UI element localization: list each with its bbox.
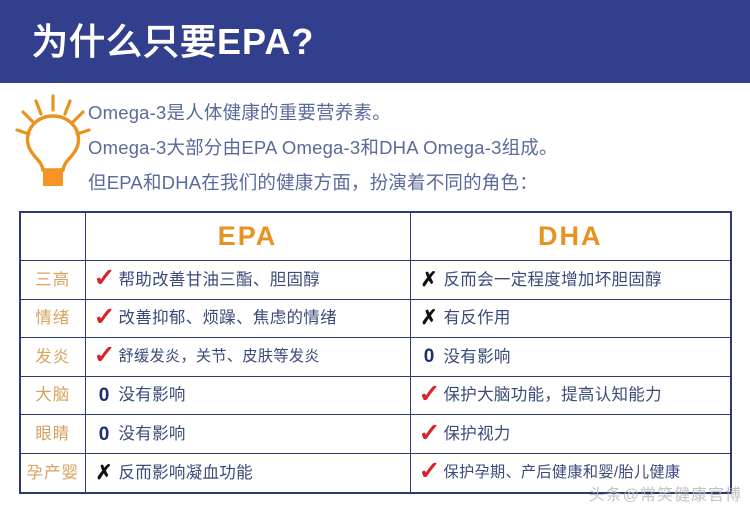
row-epa-text: 反而影响凝血功能 [119, 465, 253, 482]
row-epa-cell: ✓ 改善抑郁、烦躁、焦虑的情绪 [85, 299, 410, 338]
row-dha-cell: ✗ 有反作用 [410, 299, 731, 338]
title-banner: 为什么只要EPA? [0, 0, 750, 83]
row-dha-text: 反而会一定程度增加坏胆固醇 [444, 272, 662, 289]
table-row: 眼睛 0 没有影响 ✓ 保护视力 [20, 415, 731, 454]
row-dha-text: 保护孕期、产后健康和婴/胎儿健康 [444, 465, 681, 480]
row-dha-text: 保护视力 [444, 426, 511, 443]
row-label-cell: 情绪 [20, 299, 85, 338]
table-header-epa-label: EPA [86, 223, 410, 250]
intro-line-1: Omega-3是人体健康的重要营养素。 [88, 95, 738, 130]
row-dha-text: 保护大脑功能，提高认知能力 [444, 387, 662, 404]
cross-icon: ✗ [418, 270, 441, 290]
row-label: 大脑 [21, 387, 85, 404]
intro-text-block: Omega-3是人体健康的重要营养素。 Omega-3大部分由EPA Omega… [88, 95, 738, 200]
cross-icon: ✗ [93, 463, 116, 483]
row-dha-cell: ✓ 保护大脑功能，提高认知能力 [410, 376, 731, 415]
row-label-cell: 发炎 [20, 338, 85, 377]
check-icon: ✓ [417, 459, 441, 484]
table-header-dha-label: DHA [411, 223, 731, 250]
check-icon: ✓ [92, 305, 116, 330]
row-label-cell: 大脑 [20, 376, 85, 415]
row-label: 发炎 [21, 349, 85, 366]
row-label: 三高 [21, 272, 85, 289]
intro-line-2: Omega-3大部分由EPA Omega-3和DHA Omega-3组成。 [88, 130, 738, 165]
table-row: 情绪 ✓ 改善抑郁、烦躁、焦虑的情绪 ✗ 有反作用 [20, 299, 731, 338]
check-icon: ✓ [417, 421, 441, 446]
intro-line-3: 但EPA和DHA在我们的健康方面，扮演着不同的角色： [88, 165, 738, 200]
row-dha-cell: ✗ 反而会一定程度增加坏胆固醇 [410, 261, 731, 300]
check-icon: ✓ [92, 266, 116, 291]
row-dha-text: 有反作用 [444, 310, 511, 327]
check-icon: ✓ [92, 343, 116, 368]
row-epa-text: 没有影响 [119, 387, 186, 404]
zero-icon: 0 [93, 386, 116, 405]
lightbulb-icon [14, 91, 92, 189]
table-header-dha-cell: DHA [410, 212, 731, 261]
row-label-cell: 三高 [20, 261, 85, 300]
row-epa-cell: 0 没有影响 [85, 415, 410, 454]
intro-section: Omega-3是人体健康的重要营养素。 Omega-3大部分由EPA Omega… [0, 83, 750, 205]
row-label: 孕产婴 [21, 465, 85, 482]
table-header-epa-cell: EPA [85, 212, 410, 261]
table-row: 发炎 ✓ 舒缓发炎，关节、皮肤等发炎 0 没有影响 [20, 338, 731, 377]
row-dha-text: 没有影响 [444, 349, 511, 366]
row-epa-text: 没有影响 [119, 426, 186, 443]
row-epa-text: 舒缓发炎，关节、皮肤等发炎 [119, 349, 320, 364]
row-dha-cell: 0 没有影响 [410, 338, 731, 377]
row-epa-cell: ✓ 舒缓发炎，关节、皮肤等发炎 [85, 338, 410, 377]
watermark-text: 头条@常笑健康官博 [589, 481, 742, 505]
row-epa-text: 帮助改善甘油三酯、胆固醇 [119, 272, 321, 289]
page-title: 为什么只要EPA? [32, 24, 314, 60]
check-icon: ✓ [417, 382, 441, 407]
row-label-cell: 眼睛 [20, 415, 85, 454]
row-epa-cell: 0 没有影响 [85, 376, 410, 415]
row-epa-cell: ✗ 反而影响凝血功能 [85, 453, 410, 492]
zero-icon: 0 [93, 425, 116, 444]
row-label-cell: 孕产婴 [20, 453, 85, 492]
cross-icon: ✗ [418, 308, 441, 328]
table-header-row: EPA DHA [20, 212, 731, 261]
epa-dha-comparison-table: EPA DHA 三高 ✓ 帮助改善甘油三酯、胆固醇 ✗ 反而会一定程度增加坏胆固… [19, 211, 732, 494]
row-label: 情绪 [21, 310, 85, 327]
table-row: 大脑 0 没有影响 ✓ 保护大脑功能，提高认知能力 [20, 376, 731, 415]
row-dha-cell: ✓ 保护视力 [410, 415, 731, 454]
row-label: 眼睛 [21, 426, 85, 443]
zero-icon: 0 [418, 347, 441, 366]
table-header-corner-cell [20, 212, 85, 261]
table-row: 三高 ✓ 帮助改善甘油三酯、胆固醇 ✗ 反而会一定程度增加坏胆固醇 [20, 261, 731, 300]
row-epa-cell: ✓ 帮助改善甘油三酯、胆固醇 [85, 261, 410, 300]
row-epa-text: 改善抑郁、烦躁、焦虑的情绪 [119, 310, 337, 327]
